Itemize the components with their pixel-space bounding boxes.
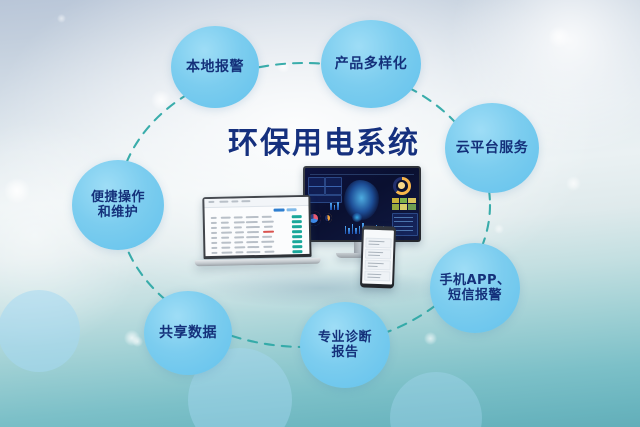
node-easy-operation[interactable]: 便捷操作 和维护 — [72, 160, 164, 250]
node-label-line2: 报告 — [314, 345, 376, 360]
laptop-base — [195, 258, 321, 267]
node-diagnosis-report[interactable]: 专业诊断 报告 — [300, 302, 390, 388]
phone-body — [360, 225, 396, 288]
node-label-line1: 手机APP、 — [435, 273, 514, 288]
list-item — [365, 249, 391, 260]
node-label-line2: 和维护 — [87, 205, 149, 220]
bokeh-dot-10 — [494, 224, 504, 234]
bokeh-dot-3 — [151, 90, 171, 110]
bokeh-dot-6 — [566, 176, 581, 191]
node-label-line1: 便捷操作 — [87, 190, 149, 205]
laptop-screen — [204, 197, 309, 256]
bokeh-dot-2 — [124, 330, 140, 346]
phone-screen — [362, 229, 394, 284]
node-label: 共享数据 — [155, 325, 221, 342]
smartphone — [360, 225, 396, 288]
node-label: 云平台服务 — [452, 140, 533, 157]
list-item — [365, 271, 391, 282]
node-app-sms-alarm[interactable]: 手机APP、 短信报警 — [430, 243, 520, 333]
node-label: 本地报警 — [182, 59, 248, 76]
poster-canvas: 环保用电系统 本地报警 产品多样化 云平台服务 手机APP、 短信报警 专业诊断… — [0, 0, 640, 427]
device-shadow — [196, 268, 446, 308]
monitor-china-map — [344, 180, 379, 220]
decor-circle-right — [390, 372, 482, 427]
bokeh-dot-1 — [4, 178, 30, 204]
list-item — [365, 260, 391, 271]
bokeh-dot-7 — [424, 332, 437, 345]
bokeh-dot-8 — [132, 336, 143, 347]
bokeh-dot-5 — [548, 26, 570, 48]
node-local-alarm[interactable]: 本地报警 — [171, 26, 259, 108]
laptop-lid — [202, 195, 311, 259]
node-cloud-service[interactable]: 云平台服务 — [445, 103, 539, 193]
page-title: 环保用电系统 — [228, 118, 420, 162]
list-item — [366, 238, 392, 249]
decor-circle-left — [0, 290, 80, 372]
laptop — [202, 195, 311, 266]
bokeh-dot-4 — [277, 60, 290, 73]
node-label: 产品多样化 — [331, 56, 412, 73]
node-label-line1: 专业诊断 — [314, 330, 376, 345]
table-row — [210, 249, 307, 254]
bokeh-dot-9 — [57, 14, 66, 23]
node-label-line2: 短信报警 — [435, 288, 514, 303]
node-product-diversity[interactable]: 产品多样化 — [321, 20, 421, 108]
node-shared-data[interactable]: 共享数据 — [144, 291, 232, 375]
